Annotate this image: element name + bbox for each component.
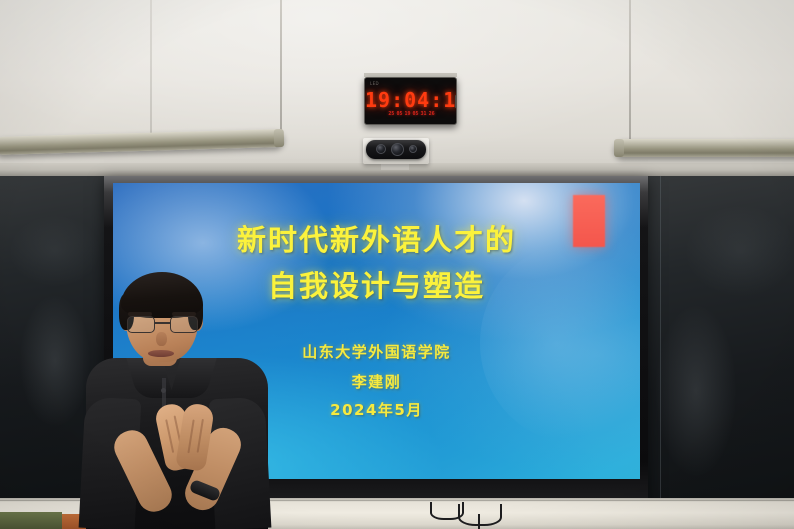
- finger-crease-1: [165, 419, 174, 453]
- light-cable-right: [629, 0, 631, 142]
- light-cap-left: [274, 129, 284, 147]
- classroom-scene: LED 19:04:10 25 05 19 05 31 26 COIN 欧派: [0, 0, 794, 529]
- clock-seg-2: 19: [404, 111, 410, 117]
- led-wall-clock: LED 19:04:10 25 05 19 05 31 26: [364, 77, 457, 125]
- presenter-shirt-button-1: [161, 388, 166, 393]
- light-cable-left: [280, 0, 282, 136]
- finger-crease-3: [187, 419, 194, 453]
- blackboard-seam-right: [660, 176, 661, 501]
- glasses-lens-right: [170, 316, 198, 333]
- glasses-bridge: [155, 322, 170, 324]
- camera-lens-left: [376, 144, 386, 154]
- presenter: [80, 270, 280, 529]
- clock-seg-4: 31: [421, 111, 427, 117]
- blackboard-right: [646, 176, 794, 501]
- camera-lens-right: [409, 145, 417, 153]
- cable-loop-2: [458, 504, 502, 526]
- clock-seg-3: 05: [413, 111, 419, 117]
- glasses-lens-left: [127, 316, 155, 333]
- clock-seg-1: 05: [396, 111, 402, 117]
- light-cap-right: [614, 139, 624, 157]
- slide-title-line-1: 新时代新外语人才的: [113, 217, 640, 259]
- light-cable-left-2: [150, 0, 152, 136]
- presenter-hands-clasped: [158, 404, 214, 484]
- presenter-nose: [156, 332, 167, 346]
- pendant-light-right: [614, 139, 794, 157]
- ledge-object-green[interactable]: [0, 512, 62, 529]
- clock-seg-5: 26: [429, 111, 435, 117]
- clock-side-button[interactable]: [455, 95, 457, 108]
- chalk-smudge-3: [656, 306, 736, 476]
- cable-drop: [478, 514, 480, 529]
- clock-secondary-row: 25 05 19 05 31 26: [365, 111, 457, 117]
- panel-cable-bundle: [420, 500, 540, 529]
- conference-camera-bar: [366, 140, 426, 159]
- clock-time-display: 19:04:10: [365, 88, 457, 112]
- chalk-smudge-4: [686, 206, 794, 296]
- camera-lens-center: [391, 143, 404, 156]
- finger-crease-4: [197, 419, 204, 453]
- presenter-mouth: [148, 350, 174, 357]
- clock-brand-label: LED: [370, 81, 379, 86]
- clock-seg-0: 25: [388, 111, 394, 117]
